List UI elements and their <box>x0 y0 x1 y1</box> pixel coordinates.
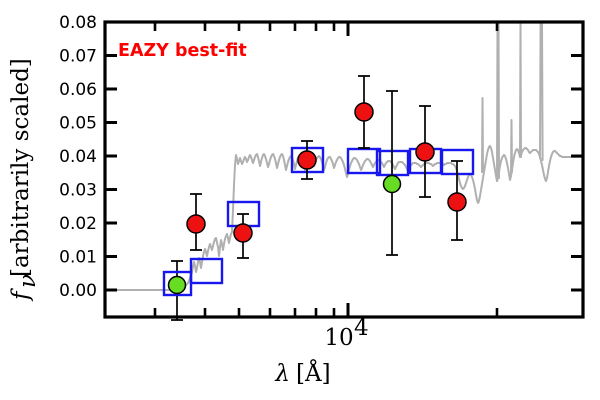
datapoint-group <box>355 76 373 148</box>
y-tick-label: 0.00 <box>59 281 97 301</box>
x-tick-label-exponent: 4 <box>354 315 369 341</box>
y-tick-label: 0.04 <box>59 147 97 167</box>
x-axis-title-lambda: λ <box>274 361 290 387</box>
x-axis-ticks <box>155 22 497 317</box>
y-axis-title-f: f <box>8 288 34 302</box>
plot-canvas: 0.00 0.01 0.02 0.03 0.04 0.05 0.06 0.07 … <box>0 0 600 400</box>
y-tick-label: 0.03 <box>59 181 97 201</box>
best-fit-annotation-label: EAZY best-fit <box>118 41 247 61</box>
y-axis-tick-labels: 0.00 0.01 0.02 0.03 0.04 0.05 0.06 0.07 … <box>59 13 97 301</box>
x-axis-title-unit: [Å] <box>296 359 331 387</box>
y-axis-title-group: f ν [arbitrarily scaled] <box>8 58 41 302</box>
y-tick-label: 0.06 <box>59 80 97 100</box>
observed-point <box>355 103 373 121</box>
x-tick-label-mantissa: 10 <box>324 325 353 351</box>
observed-point <box>448 193 466 211</box>
x-axis-tick-label-group: 10 4 <box>324 315 368 351</box>
datapoint-group <box>234 214 252 258</box>
photometry-layer <box>164 76 473 320</box>
y-tick-label: 0.07 <box>59 47 97 67</box>
observed-point <box>298 151 316 169</box>
datapoint-group <box>384 91 401 255</box>
datapoint-group <box>187 194 205 250</box>
datapoint-group <box>416 106 434 197</box>
y-tick-label: 0.08 <box>59 13 97 33</box>
emission-line-spikes <box>482 22 543 181</box>
observed-point-low-sn <box>384 176 401 193</box>
x-axis-title-group: λ [Å] <box>274 359 330 387</box>
y-tick-label: 0.02 <box>59 214 97 234</box>
y-axis-title-rest: [arbitrarily scaled] <box>8 58 34 277</box>
sed-plot-figure: 0.00 0.01 0.02 0.03 0.04 0.05 0.06 0.07 … <box>0 0 600 400</box>
y-tick-label: 0.01 <box>59 248 97 268</box>
observed-point-low-sn <box>169 277 186 294</box>
datapoint-group <box>298 141 316 179</box>
y-tick-label: 0.05 <box>59 114 97 134</box>
observed-point <box>416 143 434 161</box>
observed-point <box>187 215 205 233</box>
observed-point <box>234 224 252 242</box>
